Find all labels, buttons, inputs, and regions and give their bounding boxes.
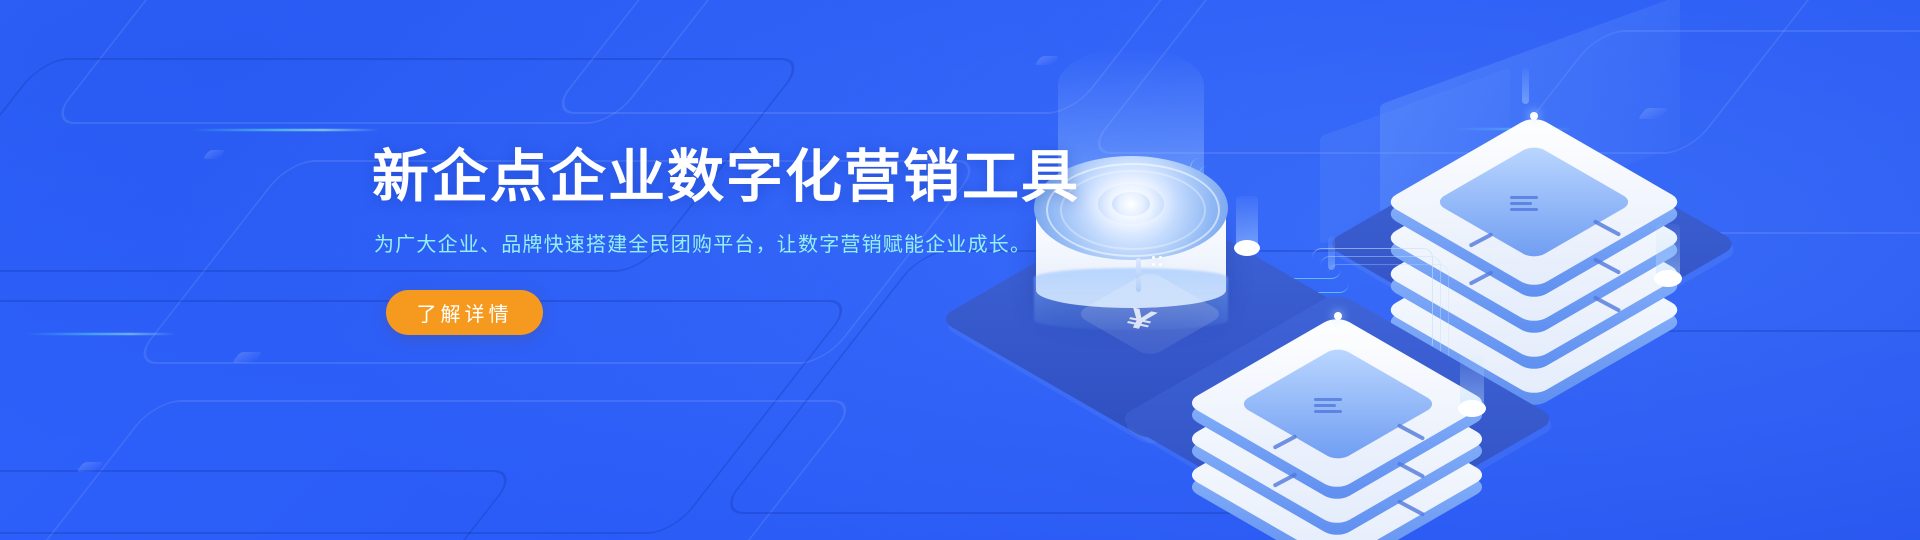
server-chip-bar [1314,404,1336,407]
background-trace [0,300,855,534]
background-trace [0,400,859,540]
server-chip-bar [1314,398,1342,401]
learn-more-button[interactable]: 了解详情 [386,290,543,335]
background-glow-line [26,333,176,335]
server-chip-bar [1510,196,1538,199]
background-trace [48,0,756,124]
platform-pillar-cap [1654,270,1682,287]
server-chip-bar [1510,208,1538,211]
hero-banner: ¥ 新企点企业数字化营销工具 为广大企业、品牌快速搭建全民团购平台，让数字营销赋… [0,0,1920,540]
server-status-dot [1334,312,1342,320]
platform-pillar-cap [1234,240,1260,256]
cylinder-core-inner [1112,192,1150,216]
server-chip-bar [1510,202,1532,205]
cylinder-indicator-dot [1152,263,1155,266]
server-upper-beam [1522,68,1529,104]
background-shard [232,352,263,363]
cylinder-indicator-dot [1152,256,1155,259]
background-trace [0,470,520,540]
page-title: 新企点企业数字化营销工具 [372,140,992,214]
server-lower-beam [1328,236,1335,270]
isometric-illustration: ¥ [1020,10,1920,540]
page-subtitle: 为广大企业、品牌快速搭建全民团购平台，让数字营销赋能企业成长。 [374,230,992,260]
cylinder-indicator-dot [1159,263,1162,266]
background-shard [202,150,225,159]
background-glow-line [190,129,380,131]
cylinder-indicator-dot [1159,256,1162,259]
hero-copy: 新企点企业数字化营销工具 为广大企业、品牌快速搭建全民团购平台，让数字营销赋能企… [372,140,992,335]
server-chip-bar [1314,410,1342,413]
server-status-dot [1530,112,1538,120]
background-shard [76,462,104,472]
platform-pillar-cap [1458,400,1486,417]
